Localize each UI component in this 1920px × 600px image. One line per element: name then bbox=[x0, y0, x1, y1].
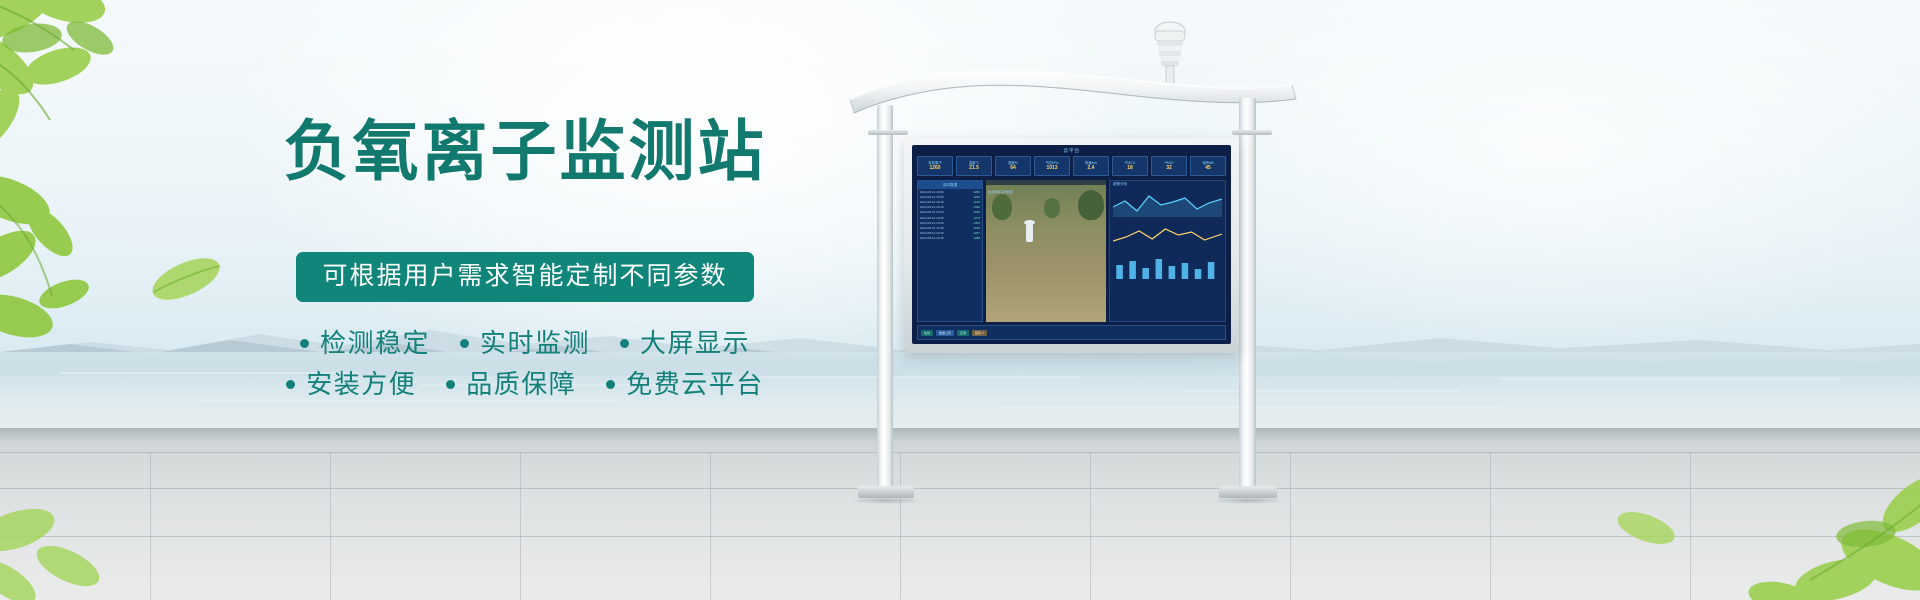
video-titlebar: 监测现场 实时视频 bbox=[986, 180, 1106, 185]
kpi-value: 32 bbox=[1166, 165, 1172, 172]
lcd-display-bezel: 云平台 负氧离子 1260 温度℃ 21.5 湿度% 64 bbox=[904, 138, 1239, 353]
video-person bbox=[1026, 224, 1033, 242]
feature-label: 免费云平台 bbox=[626, 371, 764, 397]
cell-time: 2024-05-12 10:15 bbox=[920, 205, 944, 209]
lcd-display-screen[interactable]: 云平台 负氧离子 1260 温度℃ 21.5 湿度% 64 bbox=[912, 145, 1231, 344]
kpi-value: 64 bbox=[1010, 165, 1016, 172]
feature-label: 安装方便 bbox=[306, 371, 416, 397]
bullet-dot-icon bbox=[446, 380, 455, 389]
kpi-value: 45 bbox=[1205, 165, 1211, 172]
feature-label: 实时监测 bbox=[480, 330, 590, 356]
cell-value: 1276 bbox=[973, 216, 980, 220]
kpi-card: 噪声dB 45 bbox=[1190, 156, 1226, 176]
kpi-card: 风速m/s 2.4 bbox=[1073, 156, 1109, 176]
cell-value: 1288 bbox=[973, 236, 980, 240]
kpi-strip: 负氧离子 1260 温度℃ 21.5 湿度% 64 气压hPa 1013 bbox=[917, 156, 1226, 176]
trend-sparkline-2 bbox=[1113, 223, 1222, 249]
panel-header: 趋势分析 bbox=[1110, 181, 1225, 188]
cell-time: 2024-05-12 10:40 bbox=[920, 231, 944, 235]
cell-time: 2024-05-12 10:05 bbox=[920, 195, 944, 199]
feature-item: 品质保障 bbox=[446, 371, 576, 397]
kpi-value: 2.4 bbox=[1088, 165, 1095, 172]
status-chip: 数据上传 bbox=[936, 330, 954, 336]
cell-time: 2024-05-12 10:00 bbox=[920, 190, 944, 194]
bullet-dot-icon bbox=[606, 380, 615, 389]
cell-value: 1302 bbox=[973, 221, 980, 225]
kpi-card: 温度℃ 21.5 bbox=[956, 156, 992, 176]
cell-value: 1248 bbox=[973, 210, 980, 214]
subtitle-badge: 可根据用户需求智能定制不同参数 bbox=[296, 252, 753, 302]
cell-time: 2024-05-12 10:35 bbox=[920, 226, 944, 230]
feature-label: 品质保障 bbox=[466, 371, 576, 397]
cell-time: 2024-05-12 10:30 bbox=[920, 221, 944, 225]
feature-item: 大屏显示 bbox=[620, 330, 750, 356]
screen-mount-left bbox=[868, 130, 908, 135]
status-bar: 在线 数据上传 正常 报警 0 bbox=[917, 325, 1226, 340]
kpi-card: PM10 32 bbox=[1151, 156, 1187, 176]
cell-value: 1284 bbox=[973, 195, 980, 199]
monitoring-kiosk: 云平台 负氧离子 1260 温度℃ 21.5 湿度% 64 bbox=[820, 20, 1320, 540]
trend-chart-panel: 趋势分析 bbox=[1109, 180, 1226, 322]
video-tree bbox=[1044, 198, 1060, 218]
cell-time: 2024-05-12 10:20 bbox=[920, 210, 944, 214]
kpi-card: 气压hPa 1013 bbox=[1034, 156, 1070, 176]
cell-time: 2024-05-12 10:45 bbox=[920, 236, 944, 240]
status-chip: 在线 bbox=[921, 330, 933, 336]
kpi-value: 1013 bbox=[1046, 165, 1057, 172]
status-chip: 正常 bbox=[957, 330, 969, 336]
video-tree bbox=[992, 194, 1012, 220]
feature-item: 实时监测 bbox=[460, 330, 590, 356]
video-tree bbox=[1078, 190, 1104, 220]
cell-time: 2024-05-12 10:25 bbox=[920, 216, 944, 220]
cell-value: 1267 bbox=[973, 231, 980, 235]
hero-banner: 负氧离子监测站 可根据用户需求智能定制不同参数 检测稳定 实时监测 大屏显示 bbox=[0, 0, 1920, 600]
feature-item: 安装方便 bbox=[286, 371, 416, 397]
kpi-value: 18 bbox=[1127, 165, 1133, 172]
kpi-card: PM2.5 18 bbox=[1112, 156, 1148, 176]
screen-mount-right bbox=[1232, 130, 1272, 135]
dashboard-title: 云平台 bbox=[912, 147, 1231, 154]
feature-item: 检测稳定 bbox=[300, 330, 430, 356]
trend-bars bbox=[1113, 255, 1222, 281]
video-person-hat bbox=[1024, 220, 1035, 225]
kpi-value: 1260 bbox=[929, 165, 940, 172]
feature-label: 检测稳定 bbox=[320, 330, 430, 356]
feature-label: 大屏显示 bbox=[640, 330, 750, 356]
kpi-card: 负氧离子 1260 bbox=[917, 156, 953, 176]
table-row: 2024-05-12 10:45 1288 bbox=[918, 236, 982, 241]
kpi-value: 21.5 bbox=[969, 165, 979, 172]
bullet-dot-icon bbox=[620, 339, 629, 348]
cell-time: 2024-05-12 10:10 bbox=[920, 200, 944, 204]
post-shadow-left bbox=[850, 497, 922, 504]
status-chip: 报警 0 bbox=[972, 330, 987, 336]
cell-value: 1260 bbox=[973, 190, 980, 194]
cell-value: 1215 bbox=[973, 226, 980, 230]
cell-value: 1320 bbox=[973, 205, 980, 209]
trend-sparkline-1 bbox=[1113, 191, 1222, 217]
live-video-panel[interactable]: 监测现场 实时视频 bbox=[986, 180, 1106, 322]
kpi-card: 湿度% 64 bbox=[995, 156, 1031, 176]
support-post-left bbox=[877, 105, 893, 495]
bullet-dot-icon bbox=[460, 339, 469, 348]
table-header: 实时数据 bbox=[918, 181, 982, 189]
support-post-right bbox=[1239, 98, 1256, 495]
feature-item: 免费云平台 bbox=[606, 371, 764, 397]
cell-value: 1195 bbox=[974, 200, 980, 204]
post-shadow-right bbox=[1211, 497, 1285, 504]
realtime-data-table: 实时数据 2024-05-12 10:00 1260 2024-05-12 10… bbox=[917, 180, 983, 322]
hero-copy: 负氧离子监测站 可根据用户需求智能定制不同参数 检测稳定 实时监测 大屏显示 bbox=[0, 0, 860, 600]
bullet-dot-icon bbox=[300, 339, 309, 348]
bullet-dot-icon bbox=[286, 380, 295, 389]
